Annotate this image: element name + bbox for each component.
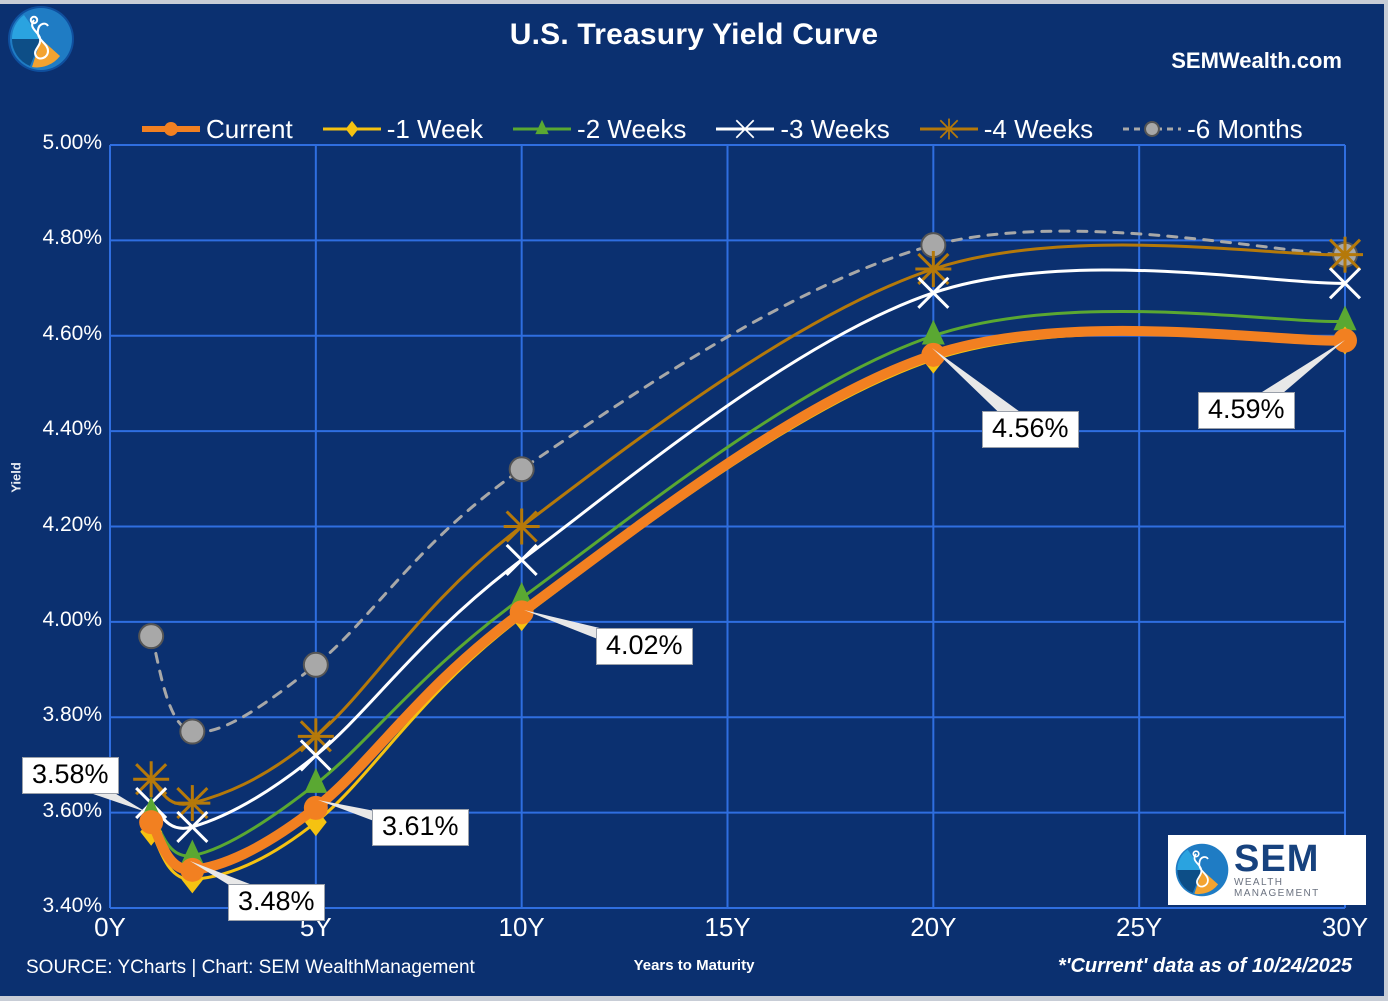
- data-point-marker: [140, 797, 163, 822]
- data-point-marker: [1333, 243, 1357, 267]
- legend-marker-x-icon: [714, 112, 776, 146]
- frame-bottom-border: [0, 996, 1388, 1001]
- frame-right-border: [1384, 0, 1388, 1001]
- brand-name: SEM: [1234, 841, 1365, 877]
- data-point-marker: [510, 600, 534, 624]
- data-label-callout: 3.48%: [228, 884, 325, 921]
- legend-item-2-weeks[interactable]: -2 Weeks: [511, 112, 686, 146]
- as-of-note: *'Current' data as of 10/24/2025: [1058, 955, 1352, 978]
- data-point-marker: [1334, 327, 1356, 355]
- gridlines: [110, 145, 1345, 908]
- legend-label: -6 Months: [1187, 114, 1303, 145]
- series-4-weeks: [133, 237, 1363, 821]
- legend-item-4-weeks[interactable]: -4 Weeks: [918, 112, 1093, 146]
- data-point-marker: [922, 320, 945, 345]
- data-label-callout: 4.56%: [982, 411, 1079, 448]
- data-point-marker: [298, 718, 334, 754]
- brand-tagline: WEALTH MANAGEMENT: [1234, 877, 1365, 899]
- callout-leaders: [67, 340, 1345, 912]
- legend-label: -1 Week: [387, 114, 483, 145]
- legend-marker-circle-icon: [1121, 112, 1183, 146]
- x-axis-tick-label: 25Y: [1094, 912, 1184, 943]
- data-point-marker: [1333, 305, 1356, 330]
- y-axis-tick-label: 3.60%: [10, 799, 102, 823]
- y-axis-tick-labels: 5.00%4.80%4.60%4.40%4.20%4.00%3.80%3.60%…: [0, 0, 102, 1001]
- legend-label: Current: [206, 114, 293, 145]
- data-point-marker: [180, 720, 204, 744]
- data-point-marker: [345, 121, 358, 137]
- y-axis-tick-label: 5.00%: [10, 131, 102, 155]
- legend-marker-circle-icon: [140, 112, 202, 146]
- series-6-months: [139, 231, 1357, 743]
- chart-legend: Current-1 Week-2 Weeks-3 Weeks-4 Weeks-6…: [140, 112, 1303, 146]
- series-2-weeks: [140, 305, 1357, 864]
- page-title: U.S. Treasury Yield Curve: [0, 18, 1388, 52]
- x-axis-tick-label: 0Y: [65, 912, 155, 943]
- data-point-marker: [921, 233, 945, 257]
- data-point-marker: [177, 812, 207, 842]
- y-axis-tick-label: 3.80%: [10, 703, 102, 727]
- data-point-marker: [304, 653, 328, 677]
- data-point-marker: [1333, 329, 1357, 353]
- data-point-marker: [510, 457, 534, 481]
- data-point-marker: [133, 761, 169, 797]
- chart-canvas: U.S. Treasury Yield Curve SEMWealth.com …: [0, 0, 1388, 1001]
- legend-item-current[interactable]: Current: [140, 112, 293, 146]
- x-axis-tick-label: 15Y: [683, 912, 773, 943]
- data-point-marker: [1330, 268, 1360, 298]
- data-label-callout: 3.58%: [22, 757, 119, 794]
- data-point-marker: [140, 818, 162, 846]
- data-point-marker: [136, 788, 166, 818]
- y-axis-tick-label: 4.40%: [10, 417, 102, 441]
- data-point-marker: [507, 545, 537, 575]
- legend-item-1-week[interactable]: -1 Week: [321, 112, 483, 146]
- series-1-week: [140, 327, 1356, 894]
- legend-marker-triangle-icon: [511, 112, 573, 146]
- data-point-marker: [918, 278, 948, 308]
- y-axis-tick-label: 4.60%: [10, 322, 102, 346]
- legend-label: -3 Weeks: [780, 114, 889, 145]
- data-point-marker: [922, 346, 944, 374]
- y-axis-tick-label: 4.20%: [10, 513, 102, 537]
- legend-item-6-months[interactable]: -6 Months: [1121, 112, 1303, 146]
- plot-background: [110, 145, 1345, 908]
- data-point-marker: [181, 865, 203, 893]
- data-point-marker: [181, 840, 204, 865]
- data-point-marker: [139, 810, 163, 834]
- legend-marker-asterisk-icon: [918, 112, 980, 146]
- data-point-marker: [164, 122, 178, 136]
- data-label-callout: 4.02%: [596, 628, 693, 665]
- y-axis-tick-label: 4.80%: [10, 226, 102, 250]
- data-point-marker: [535, 120, 548, 134]
- x-axis-tick-label: 10Y: [477, 912, 567, 943]
- legend-marker-diamond-icon: [321, 112, 383, 146]
- data-point-marker: [180, 858, 204, 882]
- legend-label: -4 Weeks: [984, 114, 1093, 145]
- data-point-marker: [938, 119, 959, 140]
- data-point-marker: [504, 509, 540, 545]
- sem-logo-mark-icon: [1174, 842, 1230, 898]
- legend-item-3-weeks[interactable]: -3 Weeks: [714, 112, 889, 146]
- data-point-marker: [1327, 237, 1363, 273]
- y-axis-tick-label: 4.00%: [10, 608, 102, 632]
- data-point-marker: [510, 582, 533, 607]
- series-current: [139, 329, 1357, 882]
- data-point-marker: [304, 768, 327, 793]
- data-label-callout: 3.61%: [372, 809, 469, 846]
- data-point-marker: [304, 796, 328, 820]
- data-point-marker: [174, 785, 210, 821]
- data-point-marker: [139, 624, 163, 648]
- data-point-marker: [301, 740, 331, 770]
- legend-label: -2 Weeks: [577, 114, 686, 145]
- website-label: SEMWealth.com: [1171, 48, 1342, 74]
- data-point-marker: [305, 808, 327, 836]
- x-axis-tick-label: 30Y: [1300, 912, 1388, 943]
- x-axis-tick-label: 20Y: [888, 912, 978, 943]
- data-point-marker: [921, 343, 945, 367]
- data-point-marker: [511, 603, 533, 631]
- brand-logo: SEM WEALTH MANAGEMENT: [1168, 835, 1366, 905]
- data-point-marker: [915, 251, 951, 287]
- data-point-marker: [1145, 122, 1159, 136]
- data-label-callout: 4.59%: [1198, 392, 1295, 429]
- frame-top-border: [0, 0, 1388, 4]
- series-3-weeks: [136, 268, 1360, 842]
